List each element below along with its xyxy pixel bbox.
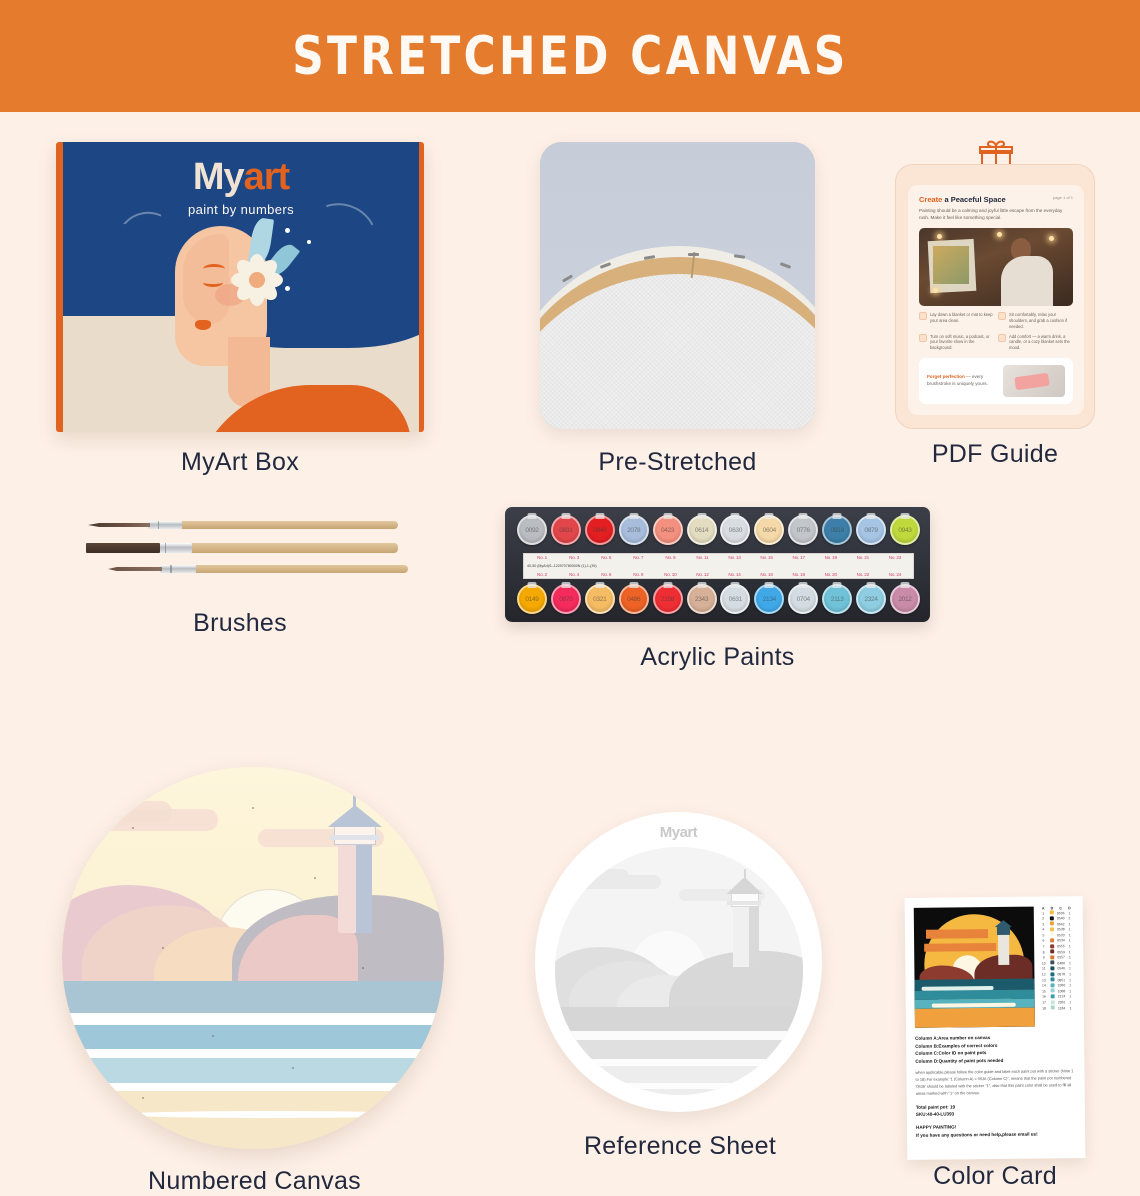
paint-number-label: No. 19 [815, 555, 847, 560]
paint-pot-lid [833, 513, 842, 519]
logo-art-text: art [244, 156, 290, 198]
paint-pot[interactable]: 2324 [856, 584, 886, 614]
color-area-number: 18 [1040, 1006, 1049, 1011]
paint-number-label: No. 20 [815, 572, 847, 577]
paint-pot-lid [528, 582, 537, 588]
paint-pot[interactable]: 2343 [687, 584, 717, 614]
color-quantity: 1 [1065, 922, 1074, 927]
paint-pot-code: 0423 [661, 527, 674, 534]
color-id: 0536 [1056, 911, 1065, 916]
paint-pot-lid [528, 513, 537, 519]
color-area-number: 8 [1039, 950, 1048, 955]
color-swatch [1050, 910, 1054, 914]
pdf-footer-accent: Forget perfection [927, 374, 965, 379]
color-swatch [1050, 938, 1054, 942]
color-area-number: 3 [1039, 922, 1048, 927]
logo-tagline: paint by numbers [63, 202, 419, 217]
paint-pot-code: 0943 [898, 527, 911, 534]
paint-pot-lid [867, 582, 876, 588]
paint-number-label: No. 9 [654, 555, 686, 560]
item-brushes: Brushes [70, 507, 410, 627]
paint-number-label: No. 11 [686, 555, 718, 560]
paint-pot-code: 0486 [627, 596, 640, 603]
paint-number-label: No. 12 [686, 572, 718, 577]
pdf-guide-card: page 1 of 1 Create a Peaceful Space Pain… [895, 164, 1095, 429]
daisy-flower-icon [231, 254, 283, 306]
color-id: 0540 [1056, 916, 1065, 921]
page-header: STRETCHED CANVAS [0, 0, 1140, 112]
color-area-number: 10 [1039, 961, 1048, 966]
pdf-tip: Turn on soft music, a podcast, or your f… [919, 334, 994, 352]
caption-pre-stretched: Pre-Stretched [540, 448, 815, 477]
beach-band [915, 1007, 1035, 1027]
paint-tray-label: No. 1No. 3No. 5No. 7No. 9No. 11No. 13No.… [523, 553, 914, 579]
color-swatch [1051, 972, 1055, 976]
paint-pot-code: 2134 [763, 596, 776, 603]
box-left-edge [56, 142, 63, 432]
item-pdf-guide: page 1 of 1 Create a Peaceful Space Pain… [890, 142, 1100, 442]
color-table-header-cell: D [1065, 906, 1074, 910]
color-table-header-cell: A [1039, 906, 1048, 910]
numbered-canvas-image [62, 767, 444, 1149]
color-id: 0533 [1057, 933, 1066, 938]
paint-number-label: No. 21 [847, 555, 879, 560]
paint-pot-code: 0604 [763, 527, 776, 534]
paint-pot[interactable]: 0630 [720, 515, 750, 545]
paint-number-label: No. 14 [718, 572, 750, 577]
caption-brushes: Brushes [70, 609, 410, 638]
paint-pot-lid [799, 582, 808, 588]
paint-number-label: No. 23 [879, 555, 911, 560]
box-right-edge [419, 142, 424, 432]
pdf-tip-text: Add comfort — a warm drink, a candle, or… [1009, 334, 1073, 352]
pdf-footer-note: Forget perfection — every brushstroke is… [919, 358, 1073, 404]
pdf-footer-image [1003, 365, 1065, 397]
color-swatch [1050, 966, 1054, 970]
paint-pot-code: 2012 [898, 596, 911, 603]
paint-pot-code: 2078 [627, 527, 640, 534]
caption-reference-sheet: Reference Sheet [535, 1132, 825, 1161]
lips [195, 320, 211, 330]
color-quantity: 1 [1065, 933, 1074, 938]
paint-pot-code: 0848 [593, 527, 606, 534]
color-area-number: 14 [1040, 984, 1049, 989]
color-swatch [1050, 961, 1054, 965]
paint-pot-code: 0149 [525, 596, 538, 603]
paint-number-label: No. 18 [783, 572, 815, 577]
paint-pot[interactable]: 0423 [653, 515, 683, 545]
color-card-sku: SKU:40-40-LU393 [916, 1109, 1076, 1118]
tip-icon [919, 334, 927, 342]
tip-icon [998, 334, 1006, 342]
paint-pot-lid [561, 513, 570, 519]
color-quantity: 1 [1066, 1006, 1075, 1011]
color-area-number: 5 [1039, 933, 1048, 938]
myart-logo: Myart paint by numbers [63, 158, 419, 217]
color-swatch [1050, 950, 1054, 954]
color-swatch [1051, 1000, 1055, 1004]
pre-stretched-image [540, 142, 815, 429]
sky-band [926, 929, 988, 939]
color-area-number: 1 [1039, 911, 1048, 916]
wave [82, 1049, 444, 1058]
paint-pot[interactable]: 0870 [551, 584, 581, 614]
color-column-desc: Column D:Quantity of paint pots needed [915, 1056, 1075, 1065]
paint-sku-text: 40-50 (MyArt)S--122970780000N (1)-1-(39) [527, 564, 597, 568]
color-table: ABCD 10536120540230542140538150533160534… [1039, 906, 1075, 1026]
contact-text: If you have any questions or need help,p… [916, 1130, 1076, 1139]
color-quantity: 1 [1066, 995, 1075, 1000]
color-id: 1184 [1057, 1006, 1066, 1011]
reference-logo: Myart [535, 824, 822, 841]
paint-pot[interactable]: 2113 [822, 584, 852, 614]
color-table-row: 1811841 [1040, 1005, 1075, 1011]
box-face: Myart paint by numbers [63, 142, 419, 432]
paint-number-label: No. 13 [718, 555, 750, 560]
paint-pot-lid [629, 513, 638, 519]
color-id: 0534 [1057, 939, 1066, 944]
pdf-page-label: page 1 of 1 [1053, 195, 1073, 200]
color-quantity: 1 [1066, 972, 1075, 977]
page-title: STRETCHED CANVAS [292, 26, 848, 87]
color-id: 0851 [1057, 978, 1066, 983]
pdf-tip-text: Sit comfortably, relax your shoulders, a… [1009, 312, 1073, 330]
caption-acrylic-paints: Acrylic Paints [505, 643, 930, 672]
lighthouse-spire [353, 795, 356, 807]
paint-pot[interactable]: 0614 [687, 515, 717, 545]
color-swatch [1050, 955, 1054, 959]
color-quantity: 1 [1066, 983, 1075, 988]
item-pre-stretched: Pre-Stretched [540, 142, 815, 442]
paint-pot[interactable]: 0631 [720, 584, 750, 614]
color-quantity: 1 [1065, 955, 1074, 960]
color-quantity: 1 [1065, 939, 1074, 944]
color-area-number: 13 [1039, 978, 1048, 983]
caption-myart-box: MyArt Box [56, 448, 424, 477]
paint-pot-lid [731, 513, 740, 519]
paint-pot-lid [663, 582, 672, 588]
myart-box-image: Myart paint by numbers [56, 142, 424, 432]
paint-pot[interactable]: 0831 [551, 515, 581, 545]
pdf-tip: Sit comfortably, relax your shoulders, a… [998, 312, 1073, 330]
color-card-columns: Column A:Area number on canvasColumn B:E… [915, 1033, 1075, 1065]
paint-number-label: No. 6 [590, 572, 622, 577]
color-table-header-cell: C [1056, 906, 1065, 910]
tip-icon [919, 312, 927, 320]
color-quantity: 1 [1065, 944, 1074, 949]
pdf-footer-text: Forget perfection — every brushstroke is… [927, 374, 997, 388]
item-myart-box: Myart paint by numbers MyArt Box [56, 142, 424, 442]
color-id: 2061 [1057, 1000, 1066, 1005]
paint-pot-lid [697, 582, 706, 588]
paint-tray: 0092083108482078042306140630060407760919… [505, 507, 930, 622]
pdf-heading-rest: a Peaceful Space [942, 195, 1005, 204]
paint-pot-lid [663, 513, 672, 519]
color-quantity: 1 [1065, 950, 1074, 955]
paint-pot-lid [697, 513, 706, 519]
paint-pot[interactable]: 0604 [754, 515, 784, 545]
color-id: 0538 [1056, 928, 1065, 933]
paint-pot[interactable]: 2158 [653, 584, 683, 614]
paint-pot[interactable]: 0776 [788, 515, 818, 545]
pdf-heading: page 1 of 1 Create a Peaceful Space [919, 195, 1073, 204]
paint-pot[interactable]: 0321 [585, 584, 615, 614]
paint-pot-code: 0092 [525, 527, 538, 534]
sky-band [924, 943, 996, 952]
item-numbered-canvas: Numbered Canvas [62, 767, 447, 1162]
color-quantity: 2 [1065, 916, 1074, 921]
pdf-tip: Lay down a blanket or mat to keep your a… [919, 312, 994, 330]
paint-pot-lid [867, 513, 876, 519]
color-quantity: 1 [1065, 927, 1074, 932]
lighthouse-shadow [356, 841, 372, 933]
color-area-number: 17 [1040, 1000, 1049, 1005]
pdf-photo [919, 228, 1073, 306]
paint-pot-code: 2324 [864, 596, 877, 603]
paint-number-label: No. 7 [622, 555, 654, 560]
pdf-tips-list: Lay down a blanket or mat to keep your a… [919, 312, 1073, 352]
paint-pot-code: 0614 [695, 527, 708, 534]
paint-number-label: No. 4 [558, 572, 590, 577]
color-id: 0542 [1056, 922, 1065, 927]
paint-pot[interactable]: 0092 [517, 515, 547, 545]
pdf-guide-page: page 1 of 1 Create a Peaceful Space Pain… [908, 185, 1084, 415]
paint-pot[interactable]: 2078 [619, 515, 649, 545]
item-color-card: ABCD 10536120540230542140538150533160534… [900, 812, 1090, 1162]
canvas-fold-edge [540, 246, 815, 429]
lighthouse-tower [998, 933, 1009, 964]
paint-pot[interactable]: 2012 [890, 584, 920, 614]
paint-pot-code: 0919 [831, 527, 844, 534]
paint-pot-lid [561, 582, 570, 588]
paint-pot-lid [900, 582, 909, 588]
color-swatch [1050, 933, 1054, 937]
paint-pot-lid [595, 582, 604, 588]
paint-pot-lid [595, 513, 604, 519]
paint-numbers-even: No. 2No. 4No. 6No. 8No. 10No. 12No. 14No… [526, 572, 911, 577]
color-swatch [1050, 916, 1054, 920]
paint-pot[interactable]: 0149 [517, 584, 547, 614]
color-area-number: 7 [1039, 945, 1048, 950]
color-table-body: 1053612054023054214053815053316053417055… [1039, 910, 1075, 1011]
paint-pot[interactable]: 0943 [890, 515, 920, 545]
paint-pot-lid [731, 582, 740, 588]
paint-pot-code: 0870 [559, 596, 572, 603]
color-swatch [1051, 1005, 1055, 1009]
color-area-number: 12 [1039, 972, 1048, 977]
paint-number-label: No. 8 [622, 572, 654, 577]
pdf-tip-text: Turn on soft music, a podcast, or your f… [930, 334, 994, 352]
paint-pot-lid [765, 582, 774, 588]
color-id: 1068 [1057, 989, 1066, 994]
paint-number-label: No. 22 [847, 572, 879, 577]
color-card-totals: Total paint pot: 19 SKU:40-40-LU393 [916, 1102, 1076, 1118]
color-id: 0406 [1057, 961, 1066, 966]
paint-number-label: No. 1 [526, 555, 558, 560]
color-id: 0878 [1057, 972, 1066, 977]
paint-pot[interactable]: 0919 [822, 515, 852, 545]
color-card-artwork [914, 907, 1035, 1028]
paint-number-label: No. 10 [654, 572, 686, 577]
paint-pot-lid [900, 513, 909, 519]
reference-sheet-image: Myart [535, 812, 822, 1112]
color-quantity: 1 [1066, 989, 1075, 994]
color-area-number: 9 [1039, 956, 1048, 961]
paint-pot-code: 0831 [559, 527, 572, 534]
paint-pot[interactable]: 0848 [585, 515, 615, 545]
reference-artwork [555, 847, 803, 1095]
color-area-number: 16 [1040, 995, 1049, 1000]
shoreline [122, 1111, 422, 1118]
brush-flat [76, 543, 398, 553]
paint-pot-lid [799, 513, 808, 519]
pdf-tip: Add comfort — a warm drink, a candle, or… [998, 334, 1073, 352]
color-card-sheet: ABCD 10536120540230542140538150533160534… [905, 896, 1086, 1160]
lighthouse-gallery [330, 835, 380, 840]
paint-pot-code: 0631 [729, 596, 742, 603]
paint-pot-code: 0879 [864, 527, 877, 534]
brush-medium-round [108, 565, 408, 573]
paint-row-bottom: 0149087003210486215823430631213407042113… [517, 584, 920, 614]
product-grid: Myart paint by numbers MyArt Box Pre-Str… [0, 112, 1140, 1140]
paint-pot[interactable]: 0704 [788, 584, 818, 614]
logo-my-text: My [193, 156, 244, 198]
paint-pot-lid [765, 513, 774, 519]
color-swatch [1051, 989, 1055, 993]
paint-row-top: 0092083108482078042306140630060407760919… [517, 515, 920, 545]
paint-pot-code: 2113 [831, 596, 844, 603]
paint-pot-code: 0630 [729, 527, 742, 534]
color-swatch [1051, 983, 1055, 987]
color-swatch [1050, 927, 1054, 931]
caption-pdf-guide: PDF Guide [890, 440, 1100, 469]
color-id: 2124 [1057, 995, 1066, 1000]
brush-fine-round [88, 521, 398, 529]
color-swatch-cell [1049, 1005, 1058, 1011]
wave [62, 1013, 444, 1025]
color-card-closing: HAPPY PAINTING! If you have any question… [916, 1122, 1076, 1138]
caption-color-card: Color Card [900, 1162, 1090, 1191]
color-quantity: 1 [1066, 961, 1075, 966]
color-quantity: 1 [1066, 978, 1075, 983]
color-swatch [1051, 977, 1055, 981]
item-acrylic-paints: 0092083108482078042306140630060407760919… [505, 507, 930, 687]
paint-number-label: No. 2 [526, 572, 558, 577]
color-card-top: ABCD 10536120540230542140538150533160534… [914, 906, 1075, 1028]
paint-number-label: No. 17 [783, 555, 815, 560]
wave [102, 1083, 442, 1091]
paint-pot-code: 0704 [797, 596, 810, 603]
color-swatch [1050, 944, 1054, 948]
color-id: 0557 [1057, 956, 1066, 961]
brushes-image [70, 507, 410, 587]
cloud [110, 801, 172, 823]
color-area-number: 11 [1039, 967, 1048, 972]
paint-pot-code: 2343 [695, 596, 708, 603]
color-id: 0555 [1057, 944, 1066, 949]
pdf-tip-text: Lay down a blanket or mat to keep your a… [930, 312, 994, 330]
paint-pot[interactable]: 0879 [856, 515, 886, 545]
paint-number-label: No. 3 [558, 555, 590, 560]
paint-pot-lid [833, 582, 842, 588]
color-id: 1060 [1057, 983, 1066, 988]
pdf-heading-accent: Create [919, 195, 942, 204]
paint-pot-code: 2158 [661, 596, 674, 603]
pdf-intro-text: Painting should be a calming and joyful … [919, 208, 1073, 222]
eyebrow [203, 264, 225, 274]
paint-number-label: No. 24 [879, 572, 911, 577]
paint-pot[interactable]: 0486 [619, 584, 649, 614]
sea-far [62, 981, 444, 1017]
color-area-number: 4 [1039, 928, 1048, 933]
color-area-number: 15 [1040, 989, 1049, 994]
color-quantity: 1 [1066, 1000, 1075, 1005]
color-id: 0546 [1057, 967, 1066, 972]
paint-pot-code: 0776 [797, 527, 810, 534]
tip-icon [998, 312, 1006, 320]
paint-numbers-odd: No. 1No. 3No. 5No. 7No. 9No. 11No. 13No.… [526, 555, 911, 560]
caption-numbered-canvas: Numbered Canvas [62, 1167, 447, 1196]
item-reference-sheet: Myart [535, 812, 825, 1162]
paint-pot-lid [629, 582, 638, 588]
color-area-number: 2 [1039, 917, 1048, 922]
color-id: 0559 [1057, 950, 1066, 955]
paint-pot[interactable]: 2134 [754, 584, 784, 614]
color-card-note: when applicable,please follow the color … [915, 1068, 1075, 1097]
color-swatch [1050, 922, 1054, 926]
paint-pot-code: 0321 [593, 596, 606, 603]
paint-number-label: No. 15 [751, 555, 783, 560]
color-quantity: 1 [1065, 911, 1074, 916]
color-quantity: 1 [1066, 967, 1075, 972]
wave [922, 986, 994, 990]
color-swatch [1051, 994, 1055, 998]
color-area-number: 6 [1039, 939, 1048, 944]
paint-number-label: No. 5 [590, 555, 622, 560]
paint-number-label: No. 16 [751, 572, 783, 577]
